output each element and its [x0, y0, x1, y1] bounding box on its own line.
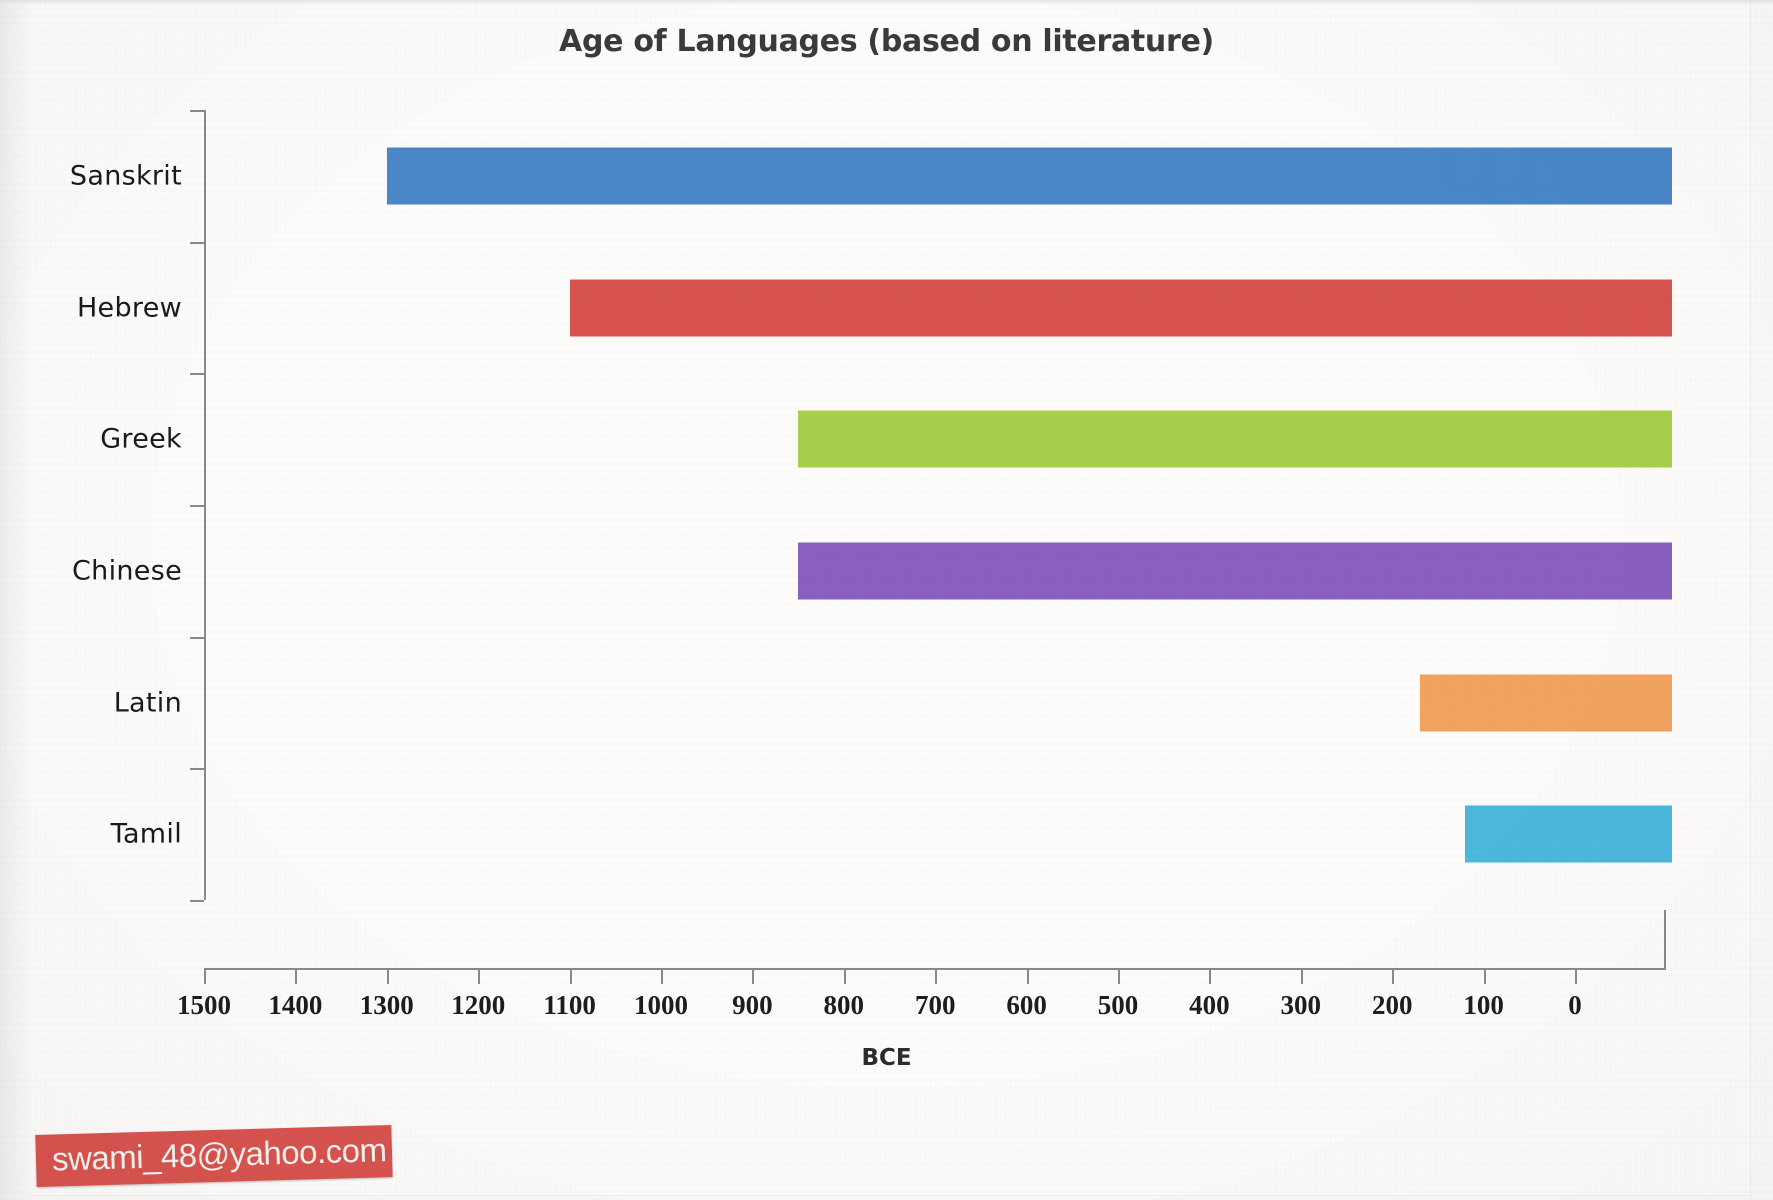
watermark-banner: swami_48@yahoo.com [35, 1125, 392, 1187]
bar-chinese [798, 542, 1672, 599]
x-axis-tick [1027, 970, 1029, 984]
x-axis-tick [1301, 970, 1303, 984]
x-axis-tick [661, 970, 663, 984]
y-axis-tick [190, 900, 204, 902]
x-axis-tick [935, 970, 937, 984]
x-axis-tick [1209, 970, 1211, 984]
y-axis-tick [190, 768, 204, 770]
category-label-tamil: Tamil [0, 819, 182, 850]
y-axis-tick [190, 505, 204, 507]
x-axis-tick [1575, 970, 1577, 984]
x-axis-tick [1392, 970, 1394, 984]
plot-right-spine [1664, 910, 1666, 970]
bar-tamil [1465, 806, 1672, 863]
category-label-hebrew: Hebrew [0, 292, 182, 323]
watermark-email-text: swami_48@yahoo.com [52, 1131, 387, 1178]
x-axis-tick [1484, 970, 1486, 984]
y-axis-tick [190, 242, 204, 244]
bar-hebrew [570, 279, 1672, 336]
category-label-greek: Greek [0, 424, 182, 455]
category-label-sanskrit: Sanskrit [0, 160, 182, 191]
y-axis-tick [190, 373, 204, 375]
x-axis-tick [387, 970, 389, 984]
category-label-chinese: Chinese [0, 555, 182, 586]
x-axis-tick-label: 0 [1515, 990, 1635, 1021]
y-axis-line [204, 110, 206, 900]
x-axis-tick [295, 970, 297, 984]
category-label-latin: Latin [0, 687, 182, 718]
bar-greek [798, 411, 1672, 468]
x-axis-tick [1118, 970, 1120, 984]
x-axis-title: BCE [0, 1045, 1773, 1071]
x-axis-tick [204, 970, 206, 984]
x-axis-tick [752, 970, 754, 984]
x-axis-tick [570, 970, 572, 984]
bar-latin [1420, 674, 1672, 731]
y-axis-tick [190, 637, 204, 639]
x-axis-tick [844, 970, 846, 984]
x-axis-tick [478, 970, 480, 984]
chart-title: Age of Languages (based on literature) [0, 24, 1773, 59]
bar-sanskrit [387, 147, 1672, 204]
scan-top-edge [0, 0, 1773, 5]
y-axis-tick [190, 110, 204, 112]
